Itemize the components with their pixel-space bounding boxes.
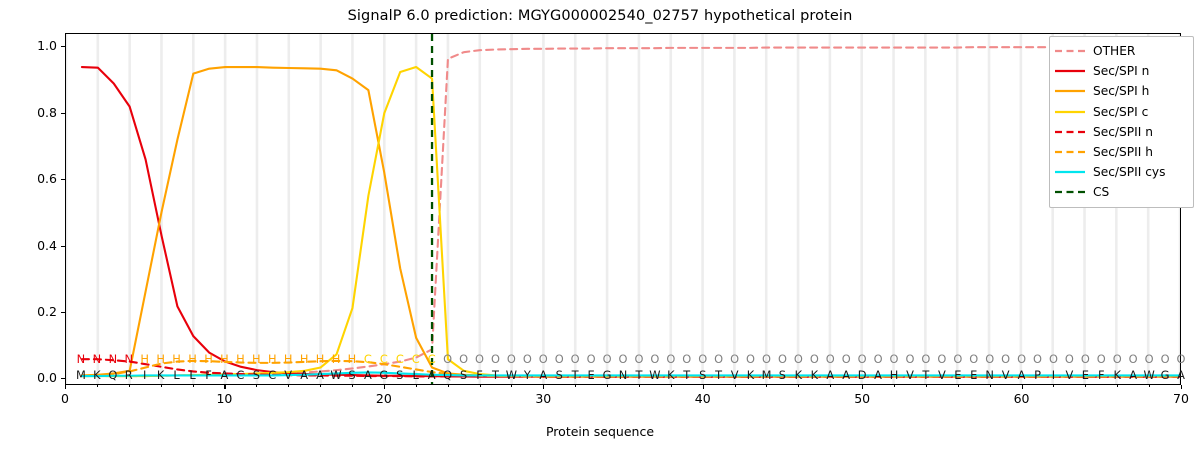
residue-letter: K [811,368,818,382]
region-marker: H [220,352,229,366]
residue-letter: S [460,368,467,382]
region-marker: H [172,352,181,366]
residue-letter: P [1034,368,1041,382]
residue-letter: L [173,368,179,382]
region-marker: C [364,352,372,366]
legend-item-sec-spii-h[interactable]: Sec/SPII h [1054,142,1188,162]
y-tick-label: 1.0 [11,38,57,53]
region-marker: O [1001,352,1010,366]
region-marker: O [1097,352,1106,366]
region-marker: O [730,352,739,366]
region-marker: O [985,352,994,366]
residue-letter: M [76,368,86,382]
x-minor-tick [894,385,895,387]
residue-letter: T [922,368,929,382]
x-tick-label: 60 [1002,391,1042,406]
residue-letter: A [874,368,882,382]
residue-letter: N [619,368,628,382]
residue-letter: W [506,368,517,382]
residue-letter: E [954,368,961,382]
x-tick-label: 0 [45,391,85,406]
y-tick-label: 0.6 [11,171,57,186]
region-marker: C [412,352,420,366]
y-tick-label: 0.2 [11,304,57,319]
region-marker: H [140,352,149,366]
x-minor-tick [958,385,959,387]
residue-letter: A [826,368,834,382]
legend-label: CS [1093,186,1109,198]
x-minor-tick [830,385,831,387]
residue-letter: Q [443,368,452,382]
region-marker: O [491,352,500,366]
region-marker: O [603,352,612,366]
residue-letter: W [649,368,660,382]
residue-letter: R [125,368,133,382]
region-marker: H [348,352,357,366]
residue-letter: G [603,368,612,382]
residue-letter: C [268,368,276,382]
region-annotation-row: NNNNHHHHHHHHHHHHHHCCCCCOOOOOOOOOOOOOOOOO… [65,352,1181,367]
region-marker: H [252,352,261,366]
y-tick-label: 0.8 [11,105,57,120]
residue-letter: L [189,368,195,382]
region-marker: O [858,352,867,366]
residue-letter: A [364,368,372,382]
residue-letter: N [985,368,994,382]
legend-item-sec-spii-cys[interactable]: Sec/SPII cys [1054,162,1188,182]
x-minor-tick [97,385,98,387]
legend-swatch-icon [1054,166,1086,178]
region-marker: O [1145,352,1154,366]
y-tick-mark [61,179,65,180]
residue-letter: A [1177,368,1185,382]
plot-area [65,33,1181,385]
residue-letter: I [143,368,146,382]
region-marker: O [523,352,532,366]
region-marker: O [1177,352,1186,366]
plot-canvas [66,34,1180,384]
region-marker: O [762,352,771,366]
amino-acid-sequence-row: MKQRIKLLFACSCVAAWSAGSLAQSFTWYASTEGNTWKTS… [65,368,1181,383]
y-tick-mark [61,113,65,114]
residue-letter: Y [524,368,531,382]
x-minor-tick [575,385,576,387]
x-minor-tick [129,385,130,387]
residue-letter: V [1065,368,1073,382]
y-tick-mark [61,246,65,247]
residue-letter: G [1161,368,1170,382]
x-tick-label: 30 [523,391,563,406]
region-marker: O [1065,352,1074,366]
region-marker: O [1081,352,1090,366]
region-marker: O [937,352,946,366]
region-marker: H [268,352,277,366]
legend-label: Sec/SPII h [1093,146,1153,158]
legend-item-other[interactable]: OTHER [1054,41,1188,61]
residue-letter: A [221,368,229,382]
x-tick-mark [862,385,863,389]
page-title: SignalP 6.0 prediction: MGYG000002540_02… [0,8,1200,24]
residue-letter: A [316,368,324,382]
x-minor-tick [193,385,194,387]
region-marker: H [300,352,309,366]
region-marker: O [666,352,675,366]
y-tick-label: 0.4 [11,238,57,253]
legend-item-sec-spii-n[interactable]: Sec/SPII n [1054,122,1188,142]
legend: OTHERSec/SPI nSec/SPI hSec/SPI cSec/SPII… [1049,36,1194,208]
region-marker: O [507,352,516,366]
x-minor-tick [352,385,353,387]
region-marker: O [953,352,962,366]
y-tick-mark [61,46,65,47]
x-minor-tick [1149,385,1150,387]
legend-label: Sec/SPI c [1093,106,1148,118]
region-marker: O [650,352,659,366]
y-tick-label: 0.0 [11,370,57,385]
x-minor-tick [511,385,512,387]
residue-letter: A [300,368,308,382]
region-marker: O [794,352,803,366]
x-tick-mark [703,385,704,389]
region-marker: H [156,352,165,366]
residue-letter: S [556,368,563,382]
x-tick-label: 10 [204,391,244,406]
region-marker: O [842,352,851,366]
residue-letter: G [379,368,388,382]
residue-letter: K [157,368,164,382]
x-minor-tick [671,385,672,387]
region-marker: H [332,352,341,366]
residue-letter: T [683,368,690,382]
region-marker: H [236,352,245,366]
residue-letter: S [779,368,786,382]
residue-letter: S [348,368,355,382]
region-marker: O [587,352,596,366]
region-marker: C [428,352,436,366]
residue-letter: T [492,368,499,382]
x-minor-tick [607,385,608,387]
region-marker: N [93,352,102,366]
residue-letter: W [1143,368,1154,382]
residue-letter: K [93,368,100,382]
residue-letter: F [476,368,483,382]
legend-swatch-icon [1054,85,1086,97]
residue-letter: E [588,368,595,382]
x-minor-tick [256,385,257,387]
residue-letter: T [572,368,579,382]
x-minor-tick [926,385,927,387]
residue-letter: V [284,368,292,382]
legend-swatch-icon [1054,65,1086,77]
residue-letter: M [762,368,772,382]
legend-swatch-icon [1054,126,1086,138]
region-marker: O [969,352,978,366]
region-marker: O [682,352,691,366]
residue-letter: E [1082,368,1089,382]
legend-swatch-icon [1054,106,1086,118]
region-marker: O [459,352,468,366]
x-tick-mark [543,385,544,389]
region-marker: C [380,352,388,366]
residue-letter: W [330,368,341,382]
residue-letter: K [795,368,802,382]
residue-letter: K [1113,368,1120,382]
region-marker: N [109,352,118,366]
residue-letter: F [205,368,212,382]
residue-letter: I [1052,368,1055,382]
x-minor-tick [766,385,767,387]
residue-letter: A [539,368,547,382]
residue-letter: F [1098,368,1105,382]
region-marker: O [921,352,930,366]
region-marker: O [1017,352,1026,366]
region-marker: O [555,352,564,366]
region-marker: O [810,352,819,366]
residue-letter: L [413,368,419,382]
residue-letter: V [731,368,739,382]
x-minor-tick [1085,385,1086,387]
x-tick-mark [224,385,225,389]
x-minor-tick [320,385,321,387]
x-minor-tick [161,385,162,387]
residue-letter: E [970,368,977,382]
chart-svg [66,34,1180,384]
region-marker: C [396,352,404,366]
legend-label: Sec/SPII n [1093,126,1153,138]
region-marker: O [443,352,452,366]
region-marker: O [778,352,787,366]
residue-letter: V [938,368,946,382]
x-minor-tick [1117,385,1118,387]
legend-swatch-icon [1054,186,1086,198]
residue-letter: C [236,368,244,382]
legend-label: Sec/SPI h [1093,85,1149,97]
x-tick-label: 20 [364,391,404,406]
x-minor-tick [735,385,736,387]
residue-letter: A [1129,368,1137,382]
residue-letter: S [699,368,706,382]
y-tick-mark [61,312,65,313]
residue-letter: K [667,368,674,382]
x-axis-label: Protein sequence [0,424,1200,439]
legend-label: Sec/SPI n [1093,65,1149,77]
x-tick-mark [384,385,385,389]
x-minor-tick [416,385,417,387]
residue-letter: H [890,368,899,382]
x-minor-tick [448,385,449,387]
legend-item-sec-spi-n[interactable]: Sec/SPI n [1054,61,1188,81]
region-marker: O [714,352,723,366]
region-marker: O [826,352,835,366]
residue-letter: Q [108,368,117,382]
residue-letter: V [1002,368,1010,382]
region-marker: O [539,352,548,366]
region-marker: O [1049,352,1058,366]
legend-item-cs[interactable]: CS [1054,182,1188,202]
x-minor-tick [798,385,799,387]
x-tick-mark [65,385,66,389]
region-marker: O [905,352,914,366]
legend-item-sec-spi-h[interactable]: Sec/SPI h [1054,81,1188,101]
residue-letter: A [1018,368,1026,382]
legend-swatch-icon [1054,146,1086,158]
x-minor-tick [990,385,991,387]
region-marker: H [316,352,325,366]
region-marker: O [1033,352,1042,366]
region-marker: O [571,352,580,366]
residue-letter: A [428,368,436,382]
legend-swatch-icon [1054,45,1086,57]
legend-item-sec-spi-c[interactable]: Sec/SPI c [1054,102,1188,122]
signalp-plot-figure: SignalP 6.0 prediction: MGYG000002540_02… [0,0,1200,450]
region-marker: N [125,352,134,366]
residue-letter: T [715,368,722,382]
x-tick-label: 40 [683,391,723,406]
region-marker: O [1113,352,1122,366]
region-marker: O [698,352,707,366]
region-marker: O [746,352,755,366]
residue-letter: S [253,368,260,382]
region-marker: H [284,352,293,366]
residue-letter: S [396,368,403,382]
legend-label: OTHER [1093,45,1135,57]
region-marker: H [204,352,213,366]
region-marker: O [874,352,883,366]
residue-letter: V [906,368,914,382]
region-marker: O [475,352,484,366]
x-tick-label: 50 [842,391,882,406]
region-marker: O [890,352,899,366]
region-marker: O [634,352,643,366]
x-minor-tick [639,385,640,387]
residue-letter: K [747,368,754,382]
region-marker: O [619,352,628,366]
region-marker: H [188,352,197,366]
legend-label: Sec/SPII cys [1093,166,1165,178]
residue-letter: D [858,368,867,382]
x-minor-tick [1053,385,1054,387]
residue-letter: T [635,368,642,382]
region-marker: O [1161,352,1170,366]
x-tick-mark [1022,385,1023,389]
region-marker: N [77,352,86,366]
x-tick-mark [1181,385,1182,389]
residue-letter: A [842,368,850,382]
x-minor-tick [288,385,289,387]
x-minor-tick [480,385,481,387]
x-tick-label: 70 [1161,391,1200,406]
region-marker: O [1129,352,1138,366]
